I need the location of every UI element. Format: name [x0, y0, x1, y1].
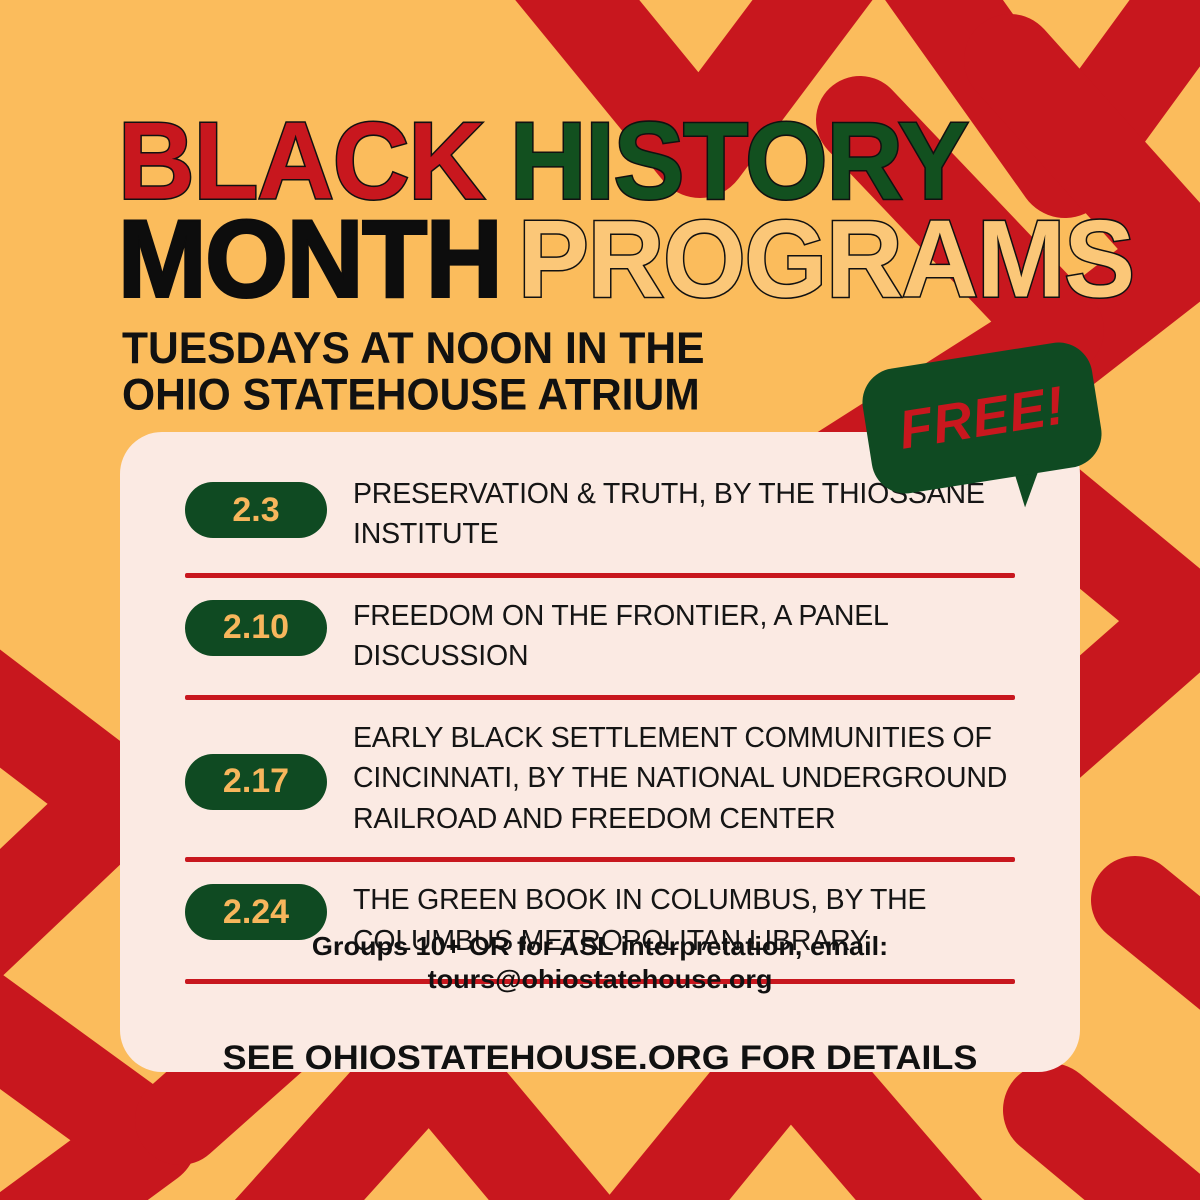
program-description: EARLY BLACK SETTLEMENT COMMUNITIES OF CI…	[353, 716, 1015, 839]
schedule-row[interactable]: 2.10 FREEDOM ON THE FRONTIER, A PANEL DI…	[185, 580, 1015, 689]
row-divider	[185, 857, 1015, 862]
poster-canvas: BLACKHISTORY MONTHPROGRAMS TUESDAYS AT N…	[0, 0, 1200, 1200]
schedule-list: 2.3 PRESERVATION & TRUTH, BY THE THIOSSA…	[185, 458, 1015, 986]
program-description: FREEDOM ON THE FRONTIER, A PANEL DISCUSS…	[353, 594, 1015, 677]
page-title: BLACKHISTORY MONTHPROGRAMS	[118, 112, 1018, 293]
free-badge-label: FREE!	[858, 338, 1107, 499]
title-word-programs: PROGRAMS	[518, 199, 1134, 321]
accessibility-note: Groups 10+ OR for ASL interpretation, em…	[101, 930, 1099, 995]
subtitle-line-2: OHIO STATEHOUSE ATRIUM	[122, 373, 705, 420]
free-badge: FREE!	[866, 355, 1098, 481]
schedule-card: 2.3 PRESERVATION & TRUTH, BY THE THIOSSA…	[120, 432, 1080, 1072]
schedule-row[interactable]: 2.17 EARLY BLACK SETTLEMENT COMMUNITIES …	[185, 702, 1015, 851]
website-cta[interactable]: SEE OHIOSTATEHOUSE.ORG FOR DETAILS	[91, 1039, 1109, 1078]
title-word-month: MONTH	[118, 199, 501, 321]
title-line-2: MONTHPROGRAMS	[118, 210, 1180, 312]
contact-email[interactable]: tours@ohiostatehouse.org	[101, 963, 1099, 996]
accessibility-note-line-1: Groups 10+ OR for ASL interpretation, em…	[101, 930, 1099, 963]
subtitle: TUESDAYS AT NOON IN THE OHIO STATEHOUSE …	[122, 326, 705, 419]
row-divider	[185, 573, 1015, 578]
subtitle-line-1: TUESDAYS AT NOON IN THE	[122, 326, 705, 373]
date-pill: 2.17	[185, 754, 327, 810]
date-pill: 2.10	[185, 600, 327, 656]
date-pill: 2.3	[185, 482, 327, 538]
card-footer: Groups 10+ OR for ASL interpretation, em…	[120, 930, 1080, 1078]
row-divider	[185, 695, 1015, 700]
